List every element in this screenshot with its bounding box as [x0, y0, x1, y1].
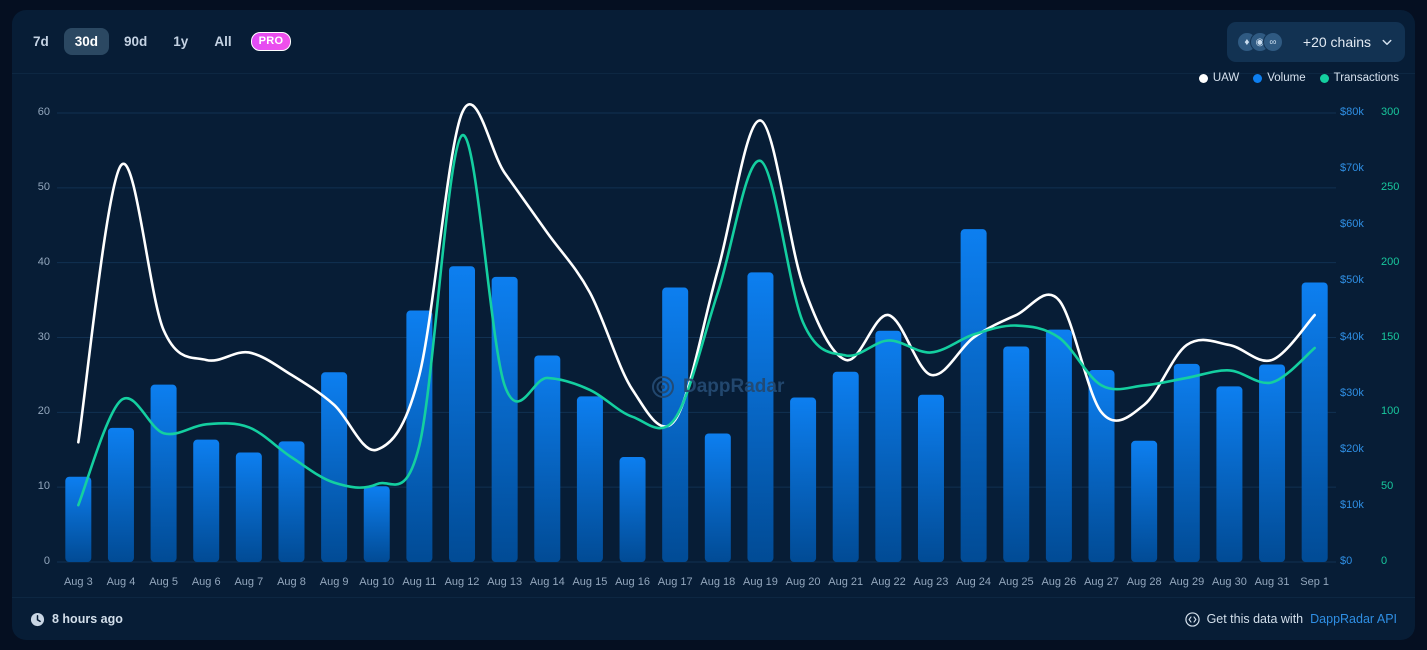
api-cta: Get this data with DappRadar API	[1185, 612, 1397, 627]
volume-bar	[534, 355, 560, 562]
volume-bar	[875, 331, 901, 562]
volume-bar	[151, 385, 177, 562]
volume-bar	[1259, 364, 1285, 562]
volume-bar	[278, 441, 304, 562]
code-icon	[1185, 612, 1200, 627]
chart-plot	[12, 74, 1415, 604]
clock-icon	[30, 612, 45, 627]
x-axis-tick: Aug 23	[910, 576, 953, 588]
volume-bar	[236, 453, 262, 562]
volume-bar	[193, 440, 219, 562]
y-axis-transactions-tick: 200	[1381, 256, 1399, 268]
trend-lines	[78, 104, 1314, 505]
volume-bar	[577, 396, 603, 562]
chain-icons-group: ♦ ◉ ∞	[1237, 32, 1283, 52]
x-axis-tick: Aug 31	[1251, 576, 1294, 588]
line-uaw	[78, 104, 1314, 450]
volume-bar	[108, 428, 134, 562]
y-axis-transactions-tick: 100	[1381, 405, 1399, 417]
y-axis-transactions-tick: 50	[1381, 480, 1393, 492]
volume-bars	[65, 229, 1327, 562]
x-axis-tick: Aug 14	[526, 576, 569, 588]
y-axis-volume-tick: $80k	[1340, 106, 1364, 118]
volume-bar	[321, 372, 347, 562]
volume-bar	[1131, 441, 1157, 562]
y-axis-transactions-tick: 300	[1381, 106, 1399, 118]
y-axis-left-tick: 10	[12, 480, 50, 492]
volume-bar	[790, 398, 816, 562]
x-axis-tick: Sep 1	[1293, 576, 1336, 588]
volume-bar	[662, 288, 688, 562]
chevron-down-icon	[1381, 36, 1393, 48]
y-axis-volume-tick: $50k	[1340, 274, 1364, 286]
y-axis-left-tick: 20	[12, 405, 50, 417]
chain-selector-label: +20 chains	[1303, 34, 1371, 50]
x-axis-tick: Aug 9	[313, 576, 356, 588]
x-axis-tick: Aug 19	[739, 576, 782, 588]
y-axis-volume-tick: $70k	[1340, 162, 1364, 174]
tab-30d[interactable]: 30d	[64, 28, 109, 56]
x-axis-tick: Aug 20	[782, 576, 825, 588]
x-axis-tick: Aug 15	[569, 576, 612, 588]
x-axis-tick: Aug 3	[57, 576, 100, 588]
x-axis-tick: Aug 28	[1123, 576, 1166, 588]
y-axis-volume-tick: $40k	[1340, 331, 1364, 343]
y-axis-transactions-tick: 250	[1381, 181, 1399, 193]
x-axis-tick: Aug 17	[654, 576, 697, 588]
y-axis-left-tick: 0	[12, 555, 50, 567]
time-range-tabs: 7d 30d 90d 1y All PRO	[22, 28, 291, 56]
x-axis-tick: Aug 22	[867, 576, 910, 588]
y-axis-transactions-tick: 150	[1381, 331, 1399, 343]
y-axis-left-tick: 40	[12, 256, 50, 268]
volume-bar	[833, 372, 859, 562]
pro-badge[interactable]: PRO	[251, 32, 292, 51]
x-axis-tick: Aug 24	[952, 576, 995, 588]
tab-all[interactable]: All	[203, 28, 242, 56]
x-axis-tick: Aug 8	[270, 576, 313, 588]
volume-bar	[449, 266, 475, 562]
last-updated-text: 8 hours ago	[52, 612, 123, 626]
api-cta-text: Get this data with	[1207, 612, 1304, 626]
volume-bar	[1046, 330, 1072, 562]
x-axis-tick: Aug 12	[441, 576, 484, 588]
x-axis-tick: Aug 4	[100, 576, 143, 588]
x-axis-tick: Aug 13	[483, 576, 526, 588]
x-axis-tick: Aug 7	[228, 576, 271, 588]
y-axis-volume-tick: $10k	[1340, 499, 1364, 511]
chart-footer: 8 hours ago Get this data with DappRadar…	[12, 597, 1415, 640]
x-axis-tick: Aug 16	[611, 576, 654, 588]
x-axis-tick: Aug 29	[1165, 576, 1208, 588]
dapp-analytics-card: 7d 30d 90d 1y All PRO ♦ ◉ ∞ +20 chains U…	[12, 10, 1415, 640]
y-axis-left-tick: 60	[12, 106, 50, 118]
tab-1y[interactable]: 1y	[162, 28, 199, 56]
tab-90d[interactable]: 90d	[113, 28, 158, 56]
y-axis-volume-tick: $0	[1340, 555, 1352, 567]
line-transactions	[78, 135, 1314, 505]
x-axis-tick: Aug 30	[1208, 576, 1251, 588]
volume-bar	[492, 277, 518, 562]
volume-bar	[406, 311, 432, 562]
api-link[interactable]: DappRadar API	[1310, 612, 1397, 626]
y-axis-volume-tick: $30k	[1340, 387, 1364, 399]
x-axis-tick: Aug 18	[697, 576, 740, 588]
volume-bar	[1216, 386, 1242, 562]
volume-bar	[1003, 346, 1029, 562]
y-axis-volume-tick: $60k	[1340, 218, 1364, 230]
chart-header: 7d 30d 90d 1y All PRO ♦ ◉ ∞ +20 chains	[12, 10, 1415, 74]
y-axis-left-tick: 30	[12, 331, 50, 343]
x-axis-tick: Aug 27	[1080, 576, 1123, 588]
x-axis-tick: Aug 26	[1038, 576, 1081, 588]
volume-bar	[65, 477, 91, 562]
volume-bar	[705, 433, 731, 562]
x-axis-tick: Aug 25	[995, 576, 1038, 588]
y-axis-left-tick: 50	[12, 181, 50, 193]
chart-area: DappRadar 0102030405060 $0$10k$20k$30k$4…	[12, 74, 1415, 604]
volume-bar	[961, 229, 987, 562]
volume-bar	[1174, 364, 1200, 562]
volume-bar	[1089, 370, 1115, 562]
volume-bar	[918, 395, 944, 562]
last-updated: 8 hours ago	[30, 612, 123, 627]
volume-bar	[747, 272, 773, 562]
chain-icon-3: ∞	[1263, 32, 1283, 52]
x-axis-tick: Aug 6	[185, 576, 228, 588]
x-axis-tick: Aug 11	[398, 576, 441, 588]
tab-7d[interactable]: 7d	[22, 28, 60, 56]
x-axis-tick: Aug 21	[824, 576, 867, 588]
y-axis-volume-tick: $20k	[1340, 443, 1364, 455]
volume-bar	[364, 486, 390, 562]
x-axis-tick: Aug 10	[355, 576, 398, 588]
volume-bar	[620, 457, 646, 562]
y-axis-transactions-tick: 0	[1381, 555, 1387, 567]
x-axis-tick: Aug 5	[142, 576, 185, 588]
chain-selector[interactable]: ♦ ◉ ∞ +20 chains	[1227, 22, 1405, 62]
